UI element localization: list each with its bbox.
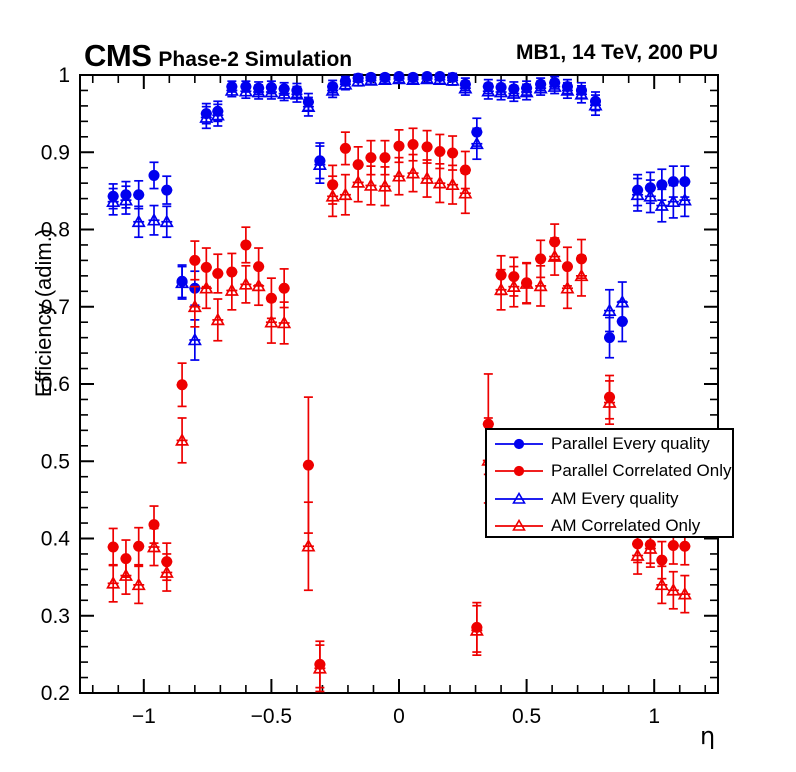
y-tick-label: 0.3	[41, 605, 70, 628]
legend-item-1[interactable]: Parallel Correlated Only	[487, 458, 732, 486]
data-marker-circle	[408, 140, 418, 150]
data-marker-circle	[279, 283, 289, 293]
data-marker-circle	[366, 153, 376, 163]
x-tick-label: −0.5	[251, 705, 292, 728]
data-marker-circle	[108, 542, 118, 552]
data-marker-circle	[380, 153, 390, 163]
legend-label: Parallel Correlated Only	[551, 461, 731, 481]
legend-marker-triangle-icon	[493, 515, 545, 537]
data-marker-circle	[190, 255, 200, 265]
data-marker-circle	[303, 460, 313, 470]
data-marker-circle	[394, 141, 404, 151]
data-marker-circle	[448, 148, 458, 158]
data-marker-circle	[213, 269, 223, 279]
series-3	[108, 155, 691, 692]
y-tick-label: 1	[58, 64, 70, 87]
legend-item-3[interactable]: AM Correlated Only	[487, 513, 732, 541]
data-marker-circle	[241, 240, 251, 250]
legend-marker-circle-icon	[493, 433, 545, 455]
x-tick-label: 0	[393, 705, 405, 728]
y-tick-label: 0.6	[41, 373, 70, 396]
y-tick-label: 0.8	[41, 219, 70, 242]
data-marker-circle	[657, 555, 667, 565]
legend-label: AM Every quality	[551, 489, 679, 509]
plot-canvas: CMS Phase-2 Simulation MB1, 14 TeV, 200 …	[0, 0, 796, 772]
legend-item-0[interactable]: Parallel Every quality	[487, 430, 732, 458]
plot-svg: 0.20.30.40.50.60.70.80.91−1−0.500.51	[0, 0, 796, 772]
data-marker-circle	[134, 190, 144, 200]
y-tick-label: 0.4	[41, 528, 71, 551]
legend-label: Parallel Every quality	[551, 434, 710, 454]
data-marker-circle	[340, 143, 350, 153]
data-marker-circle	[657, 180, 667, 190]
data-marker-circle	[605, 333, 615, 343]
legend-item-2[interactable]: AM Every quality	[487, 485, 732, 513]
legend-label: AM Correlated Only	[551, 516, 700, 536]
y-tick-label: 0.5	[41, 450, 70, 473]
legend: Parallel Every qualityParallel Correlate…	[485, 428, 734, 538]
legend-marker-triangle-icon	[493, 488, 545, 510]
data-marker-circle	[680, 541, 690, 551]
data-marker-circle	[134, 541, 144, 551]
data-marker-circle	[162, 185, 172, 195]
y-tick-label: 0.2	[41, 682, 70, 705]
x-tick-label: 1	[648, 705, 660, 728]
legend-marker-circle-icon	[493, 460, 545, 482]
y-tick-label: 0.9	[41, 141, 70, 164]
y-tick-label: 0.7	[41, 296, 70, 319]
data-marker-circle	[149, 170, 159, 180]
data-marker-circle	[536, 254, 546, 264]
x-tick-label: −1	[132, 705, 156, 728]
series-2	[108, 128, 691, 687]
x-tick-label: 0.5	[512, 705, 541, 728]
data-marker-circle	[668, 540, 678, 550]
data-marker-circle	[435, 146, 445, 156]
data-marker-circle	[177, 380, 187, 390]
data-marker-circle	[422, 142, 432, 152]
